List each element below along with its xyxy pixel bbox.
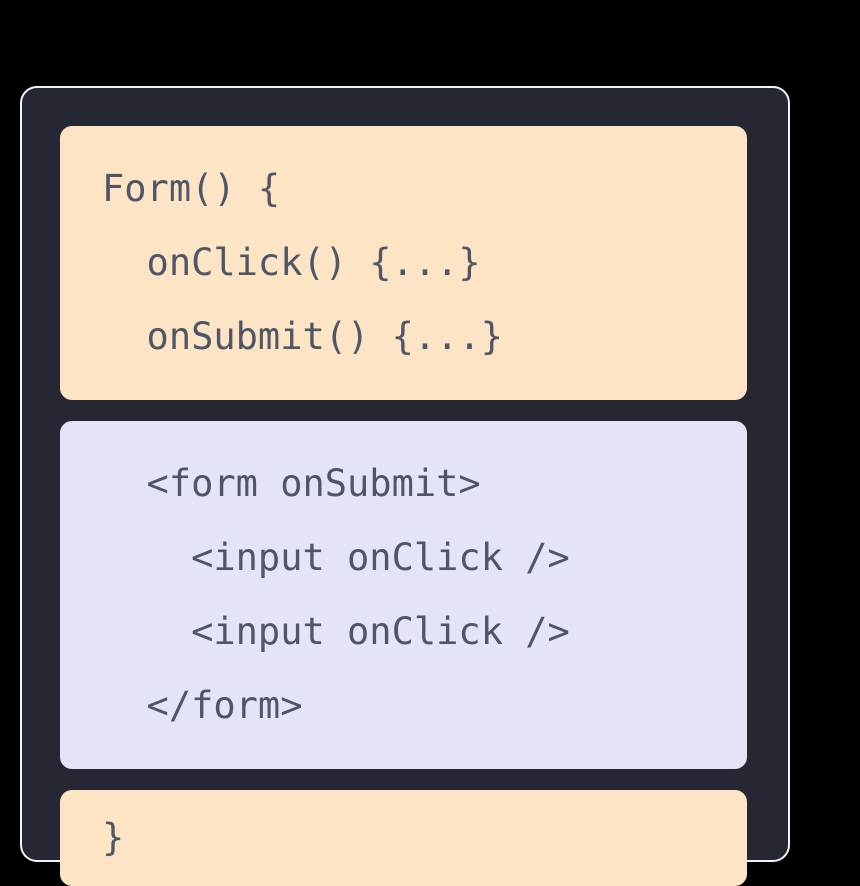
code-line: </form>	[60, 669, 747, 743]
code-line: Form() {	[60, 152, 747, 226]
code-line: onSubmit() {...}	[60, 300, 747, 374]
code-line: onClick() {...}	[60, 226, 747, 300]
code-panel-stack: Form() { onClick() {...} onSubmit() {...…	[60, 126, 747, 886]
code-line: <form onSubmit>	[60, 447, 747, 521]
screenshot-canvas: Form() { onClick() {...} onSubmit() {...…	[0, 0, 860, 874]
code-illustration-card: Form() { onClick() {...} onSubmit() {...…	[20, 86, 790, 862]
code-panel-jsx-markup: <form onSubmit> <input onClick /> <input…	[60, 421, 747, 769]
code-panel-component-declaration: Form() { onClick() {...} onSubmit() {...…	[60, 126, 747, 400]
code-line: }	[60, 816, 747, 860]
code-line: <input onClick />	[60, 595, 747, 669]
code-line: <input onClick />	[60, 521, 747, 595]
code-panel-component-close: }	[60, 790, 747, 886]
